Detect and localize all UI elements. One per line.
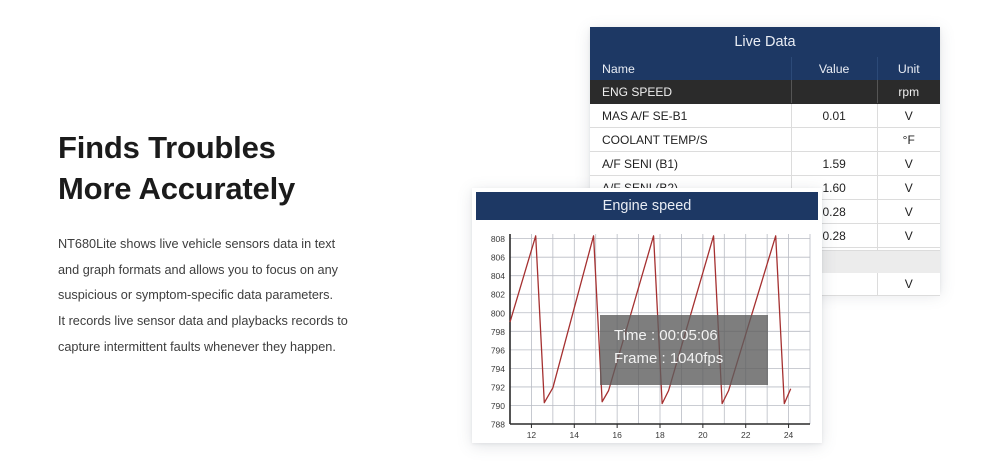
svg-text:804: 804 bbox=[491, 271, 505, 281]
svg-text:788: 788 bbox=[491, 420, 505, 430]
body-line-3: suspicious or symptom-specific data para… bbox=[58, 283, 398, 309]
cell-name: A/F SENI (B1) bbox=[590, 152, 791, 176]
promo-screenshot: Finds Troubles More Accurately NT680Lite… bbox=[0, 0, 1000, 476]
engine-speed-title: Engine speed bbox=[476, 192, 818, 220]
svg-text:22: 22 bbox=[741, 430, 751, 440]
column-header-unit: Unit bbox=[877, 57, 940, 80]
cell-unit: V bbox=[877, 152, 940, 176]
cell-value bbox=[791, 80, 877, 104]
body-line-2: and graph formats and allows you to focu… bbox=[58, 258, 398, 284]
cell-unit: °F bbox=[877, 128, 940, 152]
table-row[interactable]: A/F SENI (B1)1.59V bbox=[590, 152, 940, 176]
cell-value: 0.01 bbox=[791, 104, 877, 128]
cell-unit: V bbox=[877, 272, 940, 296]
svg-text:808: 808 bbox=[491, 234, 505, 244]
svg-text:12: 12 bbox=[527, 430, 537, 440]
svg-text:20: 20 bbox=[698, 430, 708, 440]
svg-text:18: 18 bbox=[655, 430, 665, 440]
svg-text:790: 790 bbox=[491, 401, 505, 411]
svg-text:14: 14 bbox=[570, 430, 580, 440]
cell-value bbox=[791, 128, 877, 152]
cell-value: 1.59 bbox=[791, 152, 877, 176]
svg-text:16: 16 bbox=[612, 430, 622, 440]
headline-line-2: More Accurately bbox=[58, 169, 398, 210]
cell-name: COOLANT TEMP/S bbox=[590, 128, 791, 152]
live-data-title: Live Data bbox=[590, 27, 940, 57]
svg-text:802: 802 bbox=[491, 290, 505, 300]
table-row[interactable]: COOLANT TEMP/S°F bbox=[590, 128, 940, 152]
table-row[interactable]: MAS A/F SE-B10.01V bbox=[590, 104, 940, 128]
svg-text:794: 794 bbox=[491, 364, 505, 374]
cell-unit: V bbox=[877, 104, 940, 128]
cell-unit: rpm bbox=[877, 80, 940, 104]
table-row[interactable]: ENG SPEEDrpm bbox=[590, 80, 940, 104]
page-title: Finds Troubles More Accurately bbox=[58, 128, 398, 210]
svg-text:796: 796 bbox=[491, 345, 505, 355]
body-line-4: It records live sensor data and playback… bbox=[58, 309, 398, 335]
engine-speed-plot-area: 7887907927947967988008028048068081214161… bbox=[476, 228, 818, 446]
svg-text:24: 24 bbox=[784, 430, 794, 440]
cell-name: ENG SPEED bbox=[590, 80, 791, 104]
cell-unit: V bbox=[877, 176, 940, 200]
svg-text:806: 806 bbox=[491, 253, 505, 263]
cell-unit: V bbox=[877, 224, 940, 248]
engine-speed-panel: Engine speed 788790792794796798800802804… bbox=[472, 188, 822, 443]
svg-text:792: 792 bbox=[491, 382, 505, 392]
cell-name: MAS A/F SE-B1 bbox=[590, 104, 791, 128]
body-line-5: capture intermittent faults whenever the… bbox=[58, 335, 398, 361]
table-header-row: Name Value Unit bbox=[590, 57, 940, 80]
body-copy: NT680Lite shows live vehicle sensors dat… bbox=[58, 210, 398, 361]
marketing-copy: Finds Troubles More Accurately NT680Lite… bbox=[58, 128, 398, 361]
headline-line-1: Finds Troubles bbox=[58, 128, 398, 169]
svg-text:800: 800 bbox=[491, 308, 505, 318]
column-header-name: Name bbox=[590, 57, 791, 80]
svg-text:798: 798 bbox=[491, 327, 505, 337]
column-header-value: Value bbox=[791, 57, 877, 80]
engine-speed-chart: 7887907927947967988008028048068081214161… bbox=[476, 228, 818, 446]
body-line-1: NT680Lite shows live vehicle sensors dat… bbox=[58, 232, 398, 258]
cell-unit: V bbox=[877, 200, 940, 224]
